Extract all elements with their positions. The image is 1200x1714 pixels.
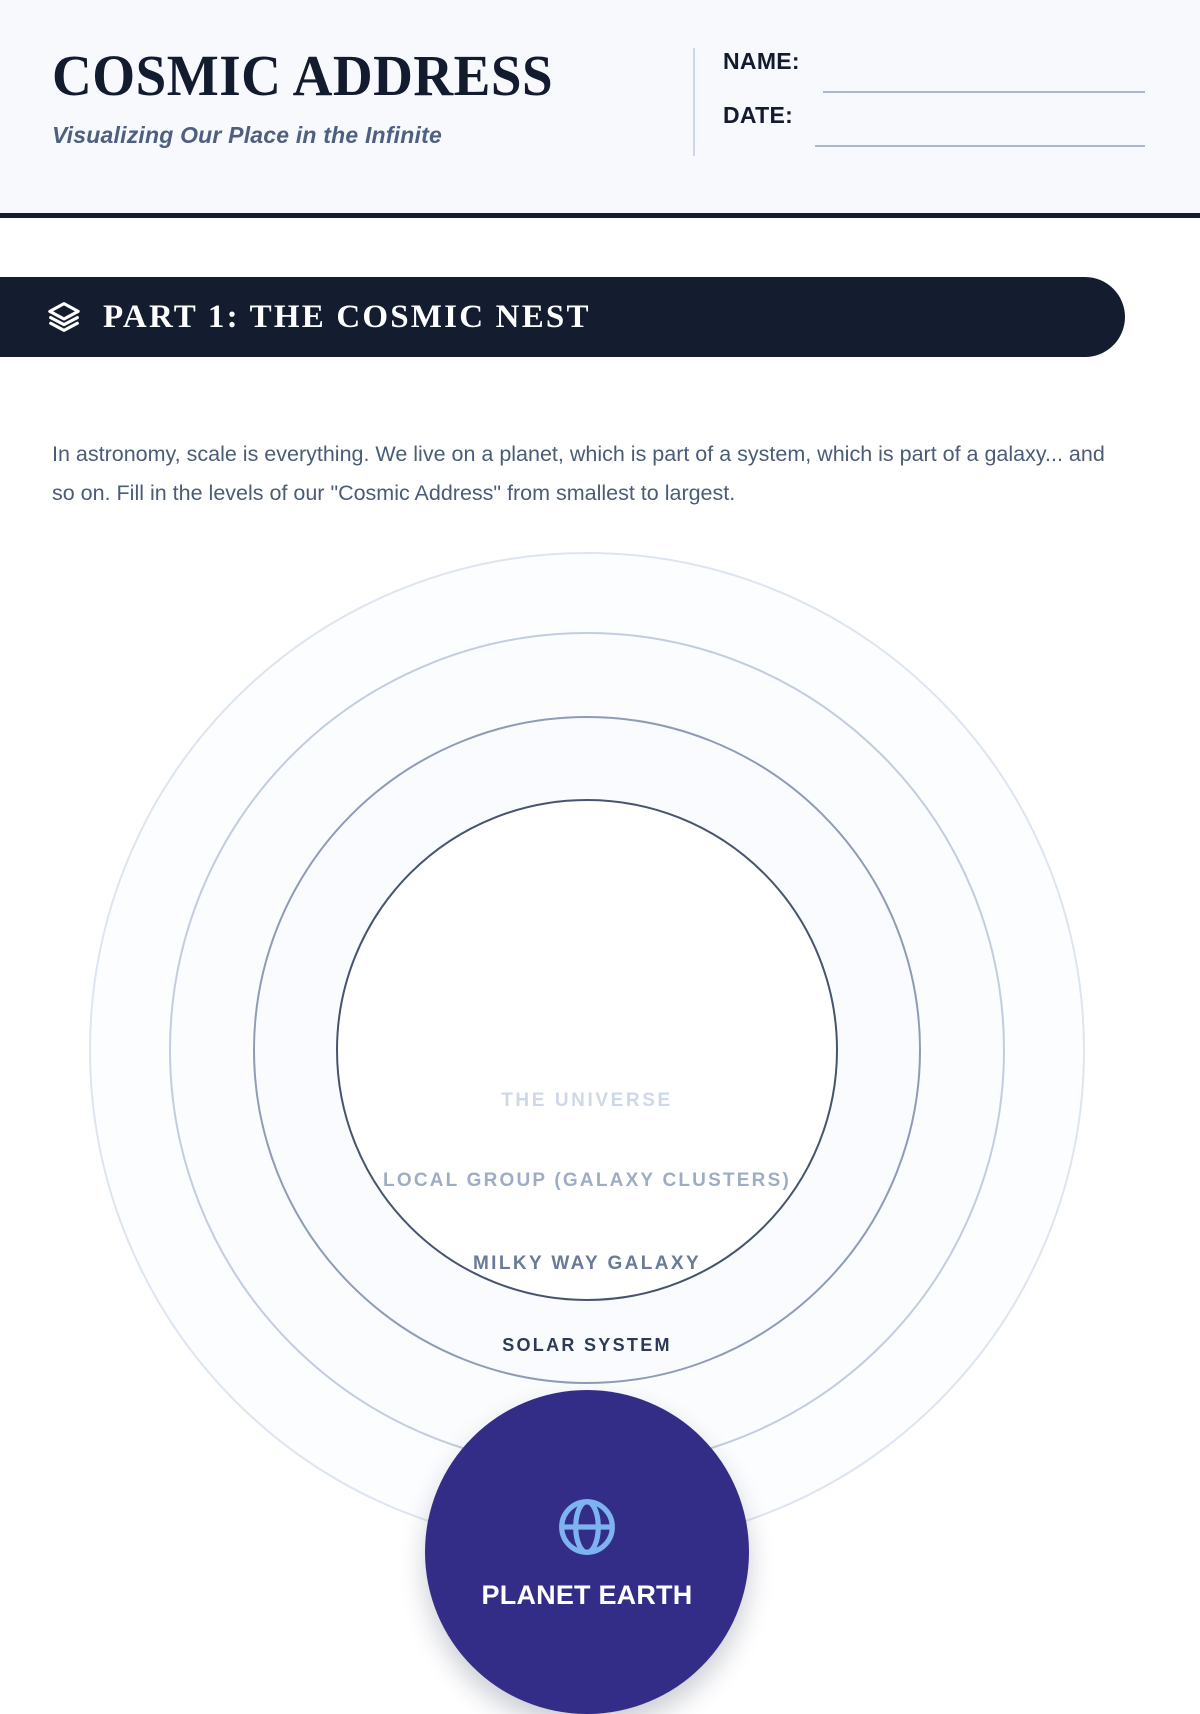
name-label: NAME: [723, 48, 815, 75]
ring-label-milky-way: MILKY WAY GALAXY [473, 1253, 701, 1275]
title-block: COSMIC ADDRESS Visualizing Our Place in … [52, 44, 672, 150]
cosmic-nest-diagram: THE UNIVERSE LOCAL GROUP (GALAXY CLUSTER… [0, 520, 1200, 1600]
globe-icon [554, 1494, 620, 1560]
student-meta-block: NAME: DATE: [693, 48, 1145, 156]
date-field-row[interactable]: DATE: [723, 102, 1145, 156]
date-input-line[interactable] [815, 145, 1145, 147]
ring-planet-earth: PLANET EARTH [425, 1390, 749, 1714]
ring-label-local-group: LOCAL GROUP (GALAXY CLUSTERS) [383, 1170, 791, 1192]
ring-label-solar-system: SOLAR SYSTEM [502, 1335, 672, 1356]
intro-paragraph: In astronomy, scale is everything. We li… [52, 435, 1122, 513]
name-field-row[interactable]: NAME: [723, 48, 1145, 102]
header-inner: COSMIC ADDRESS Visualizing Our Place in … [52, 44, 1145, 164]
name-input-line[interactable] [823, 91, 1145, 93]
date-label: DATE: [723, 102, 815, 129]
section-banner-title: PART 1: THE COSMIC NEST [103, 299, 591, 336]
layers-icon [47, 300, 81, 334]
page-header: COSMIC ADDRESS Visualizing Our Place in … [0, 0, 1200, 218]
ring-solar-system [337, 800, 837, 1300]
page-subtitle: Visualizing Our Place in the Infinite [52, 120, 672, 150]
ring-label-planet-earth: PLANET EARTH [482, 1580, 693, 1611]
section-banner-part-1: PART 1: THE COSMIC NEST [0, 277, 1125, 357]
page-title: COSMIC ADDRESS [52, 44, 641, 108]
ring-label-the-universe: THE UNIVERSE [501, 1090, 673, 1112]
